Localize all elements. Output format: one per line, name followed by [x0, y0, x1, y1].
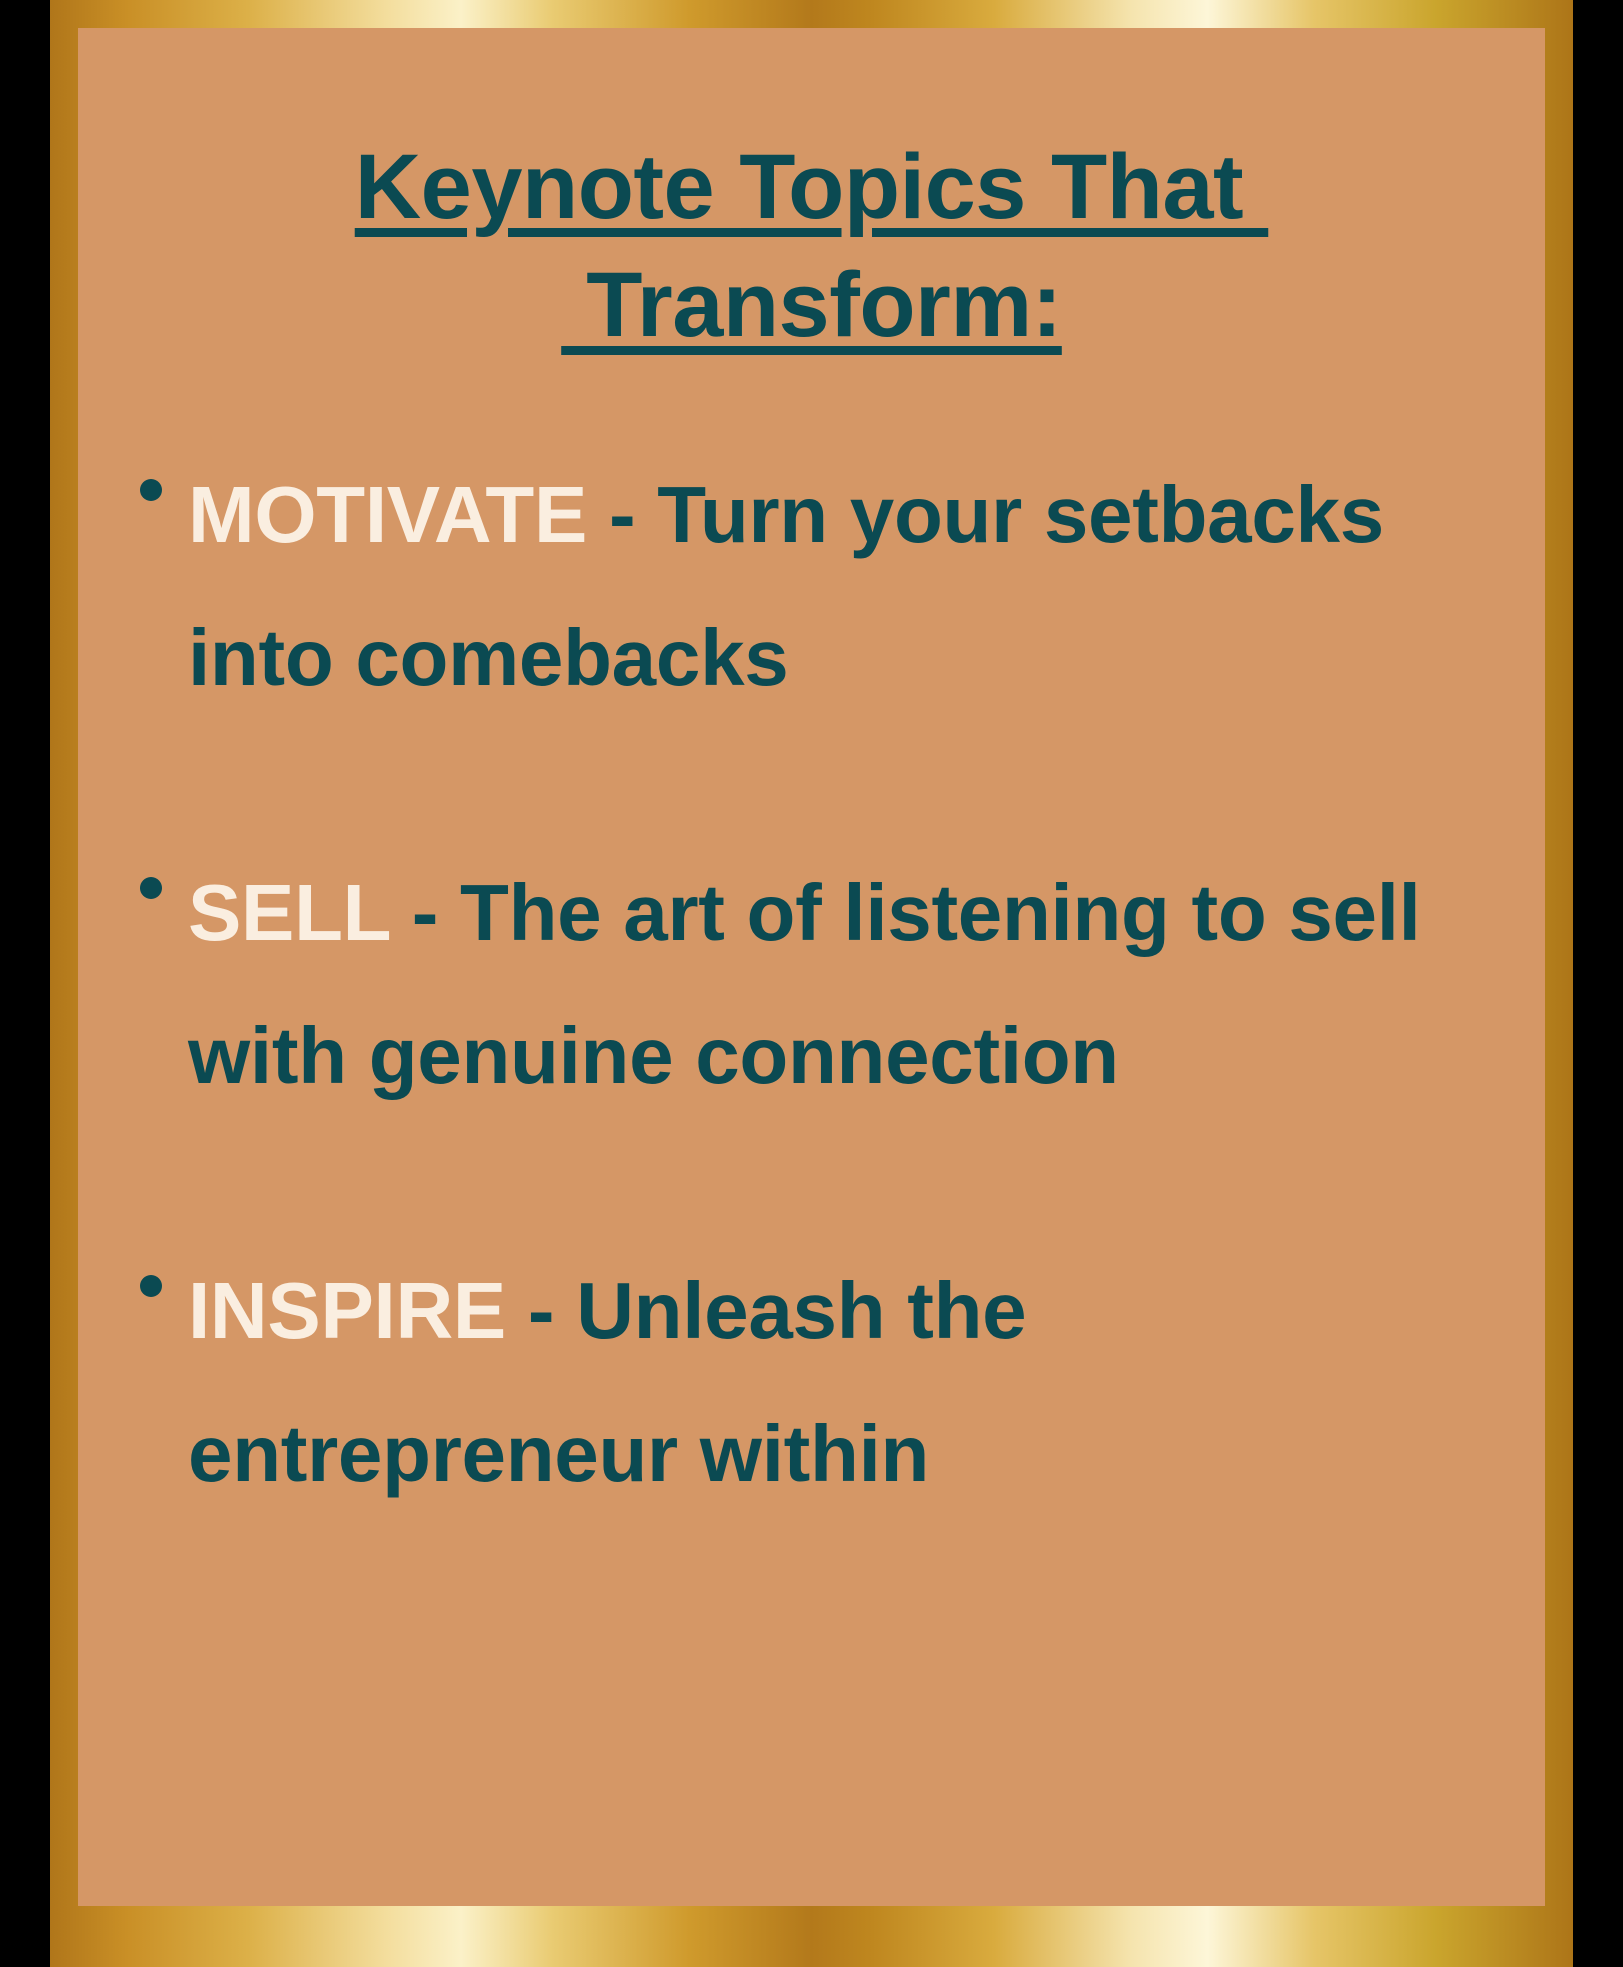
content-panel: Keynote Topics That Transform: MOTIVATE … — [78, 28, 1545, 1906]
bullet-dot-icon — [140, 877, 162, 899]
bullet-dot-icon — [140, 479, 162, 501]
list-item-separator: - — [390, 868, 460, 957]
list-item: MOTIVATE - Turn your setbacks into comeb… — [106, 443, 1505, 729]
list-item-separator: - — [587, 470, 657, 559]
page-title: Keynote Topics That Transform: — [78, 128, 1545, 364]
list-item: INSPIRE - Unleash the entrepreneur withi… — [106, 1239, 1505, 1525]
list-item-text: MOTIVATE - Turn your setbacks into comeb… — [188, 443, 1505, 729]
list-item-text: SELL - The art of listening to sell with… — [188, 841, 1505, 1127]
list-item-separator: - — [506, 1266, 576, 1355]
list-item-keyword: MOTIVATE — [188, 470, 587, 559]
poster-root: Keynote Topics That Transform: MOTIVATE … — [0, 0, 1623, 1967]
list-item-keyword: SELL — [188, 868, 390, 957]
list-item-keyword: INSPIRE — [188, 1266, 506, 1355]
bullet-dot-icon — [140, 1275, 162, 1297]
list-item: SELL - The art of listening to sell with… — [106, 841, 1505, 1127]
title-line-2: Transform: — [78, 246, 1545, 364]
title-line-1: Keynote Topics That — [78, 128, 1545, 246]
keynote-topics-list: MOTIVATE - Turn your setbacks into comeb… — [78, 443, 1545, 1525]
list-item-text: INSPIRE - Unleash the entrepreneur withi… — [188, 1239, 1505, 1525]
